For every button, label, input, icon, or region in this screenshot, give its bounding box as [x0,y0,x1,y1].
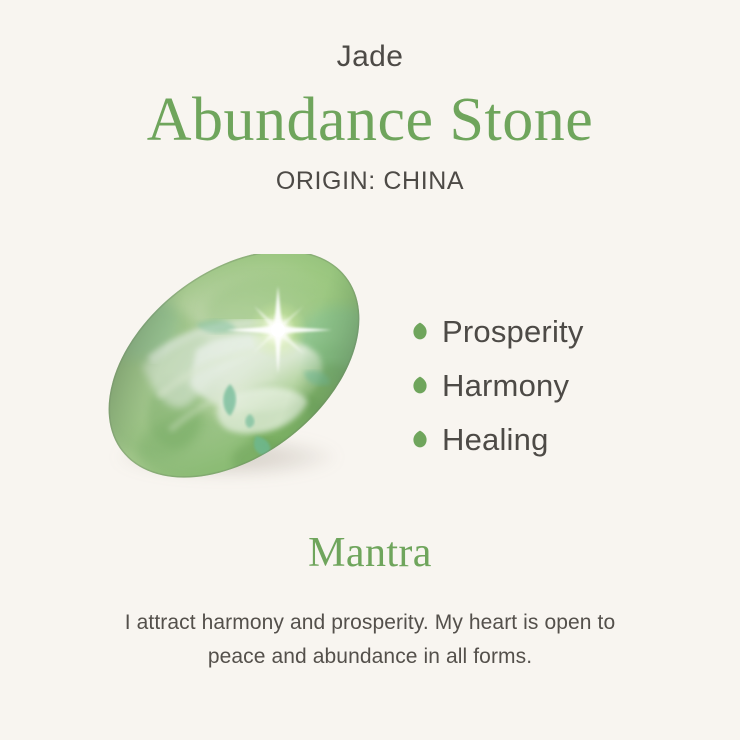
mantra-body: I attract harmony and prosperity. My hea… [100,578,640,674]
stone-card: Jade Abundance Stone ORIGIN: CHINA [0,0,740,740]
leaf-bullet-icon [412,322,428,340]
card-header: Jade Abundance Stone ORIGIN: CHINA [0,0,740,194]
mantra-section: Mantra I attract harmony and prosperity.… [0,528,740,674]
benefit-label: Harmony [442,370,569,401]
benefit-label: Healing [442,424,549,455]
list-item: Prosperity [412,304,712,358]
stone-eyebrow: Jade [0,0,740,72]
leaf-bullet-icon [412,376,428,394]
list-item: Harmony [412,358,712,412]
leaf-bullet-icon [412,430,428,448]
benefits-list: Prosperity Harmony Healing [412,304,712,466]
page-title: Abundance Stone [0,72,740,155]
jade-stone-illustration [78,254,390,504]
mantra-title: Mantra [0,528,740,578]
stone-and-benefits: Prosperity Harmony Healing [0,246,740,516]
jade-stone-icon [78,254,390,504]
origin-label: ORIGIN: CHINA [0,155,740,194]
benefit-label: Prosperity [442,316,584,347]
list-item: Healing [412,412,712,466]
